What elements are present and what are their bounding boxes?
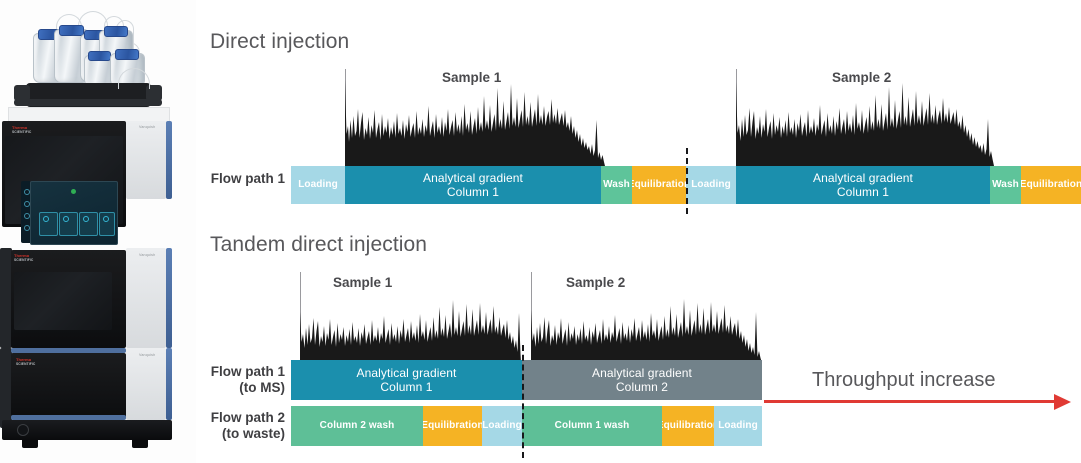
segment-analytical-gradient-column-2[interactable]: Analytical gradient Column 2 xyxy=(522,360,762,400)
instrument-accent-stripe xyxy=(166,348,172,420)
module-name-label: Vanquish xyxy=(139,253,155,257)
segment-line-1: Analytical gradient xyxy=(592,366,692,380)
instrument-foot xyxy=(132,440,148,448)
segment-analytical-gradient-column-1[interactable]: Analytical gradient Column 1 xyxy=(291,360,522,400)
uhplc-instrument-photo: ThermoSCIENTIFIC Vanquish ThermoSCIENTIF… xyxy=(0,0,196,463)
panel-title-direct-injection: Direct injection xyxy=(210,30,349,54)
segment-analytical-gradient-column-1[interactable]: Analytical gradient Column 1 xyxy=(736,166,990,204)
flow-path-1-label-text: Flow path 1 xyxy=(211,171,285,186)
segment-equilibration[interactable]: Equilibration xyxy=(1021,166,1081,204)
screen-tile[interactable] xyxy=(39,212,58,236)
instrument-accent-stripe xyxy=(166,248,172,348)
segment-line-1: Analytical gradient xyxy=(813,171,913,185)
throughput-increase-arrow xyxy=(764,400,1071,416)
module-glass-panel xyxy=(14,272,112,330)
instrument-touchscreen[interactable] xyxy=(30,181,118,245)
module-name-label: Vanquish xyxy=(139,353,155,357)
bottle-cap xyxy=(115,49,139,60)
segment-equilibration[interactable]: Equilibration xyxy=(662,406,714,446)
bottle-cap xyxy=(88,51,111,61)
screen-tile[interactable] xyxy=(99,212,115,236)
screen-side-rail xyxy=(21,181,30,243)
bottle-cap xyxy=(59,25,84,36)
instrument-foot xyxy=(22,440,38,448)
chromatogram-trace-sample-2 xyxy=(736,76,994,166)
flow-path-2-to-waste-label: Flow path 2 (to waste) xyxy=(190,410,285,442)
segment-line-1: Analytical gradient xyxy=(357,366,457,380)
segment-loading[interactable]: Loading xyxy=(714,406,762,446)
instrument-module-light xyxy=(126,121,166,199)
flow-path-2-to-waste-sublabel: (to waste) xyxy=(190,426,285,442)
flow-path-2-to-waste-label-text: Flow path 2 xyxy=(211,410,285,425)
segment-equilibration[interactable]: Equilibration xyxy=(423,406,482,446)
segment-line-2: Column 1 xyxy=(447,185,499,199)
arrow-head xyxy=(1054,394,1071,410)
module-name-label: Vanquish xyxy=(139,125,155,129)
segment-equilibration[interactable]: Equilibration xyxy=(632,166,686,204)
segment-line-2: Column 2 xyxy=(616,380,668,394)
chromatogram-trace-sample-2 xyxy=(531,290,762,363)
chromatogram-trace-sample-1 xyxy=(345,76,605,166)
throughput-increase-label: Throughput increase xyxy=(812,369,995,392)
flow-path-1-to-ms-label: Flow path 1 (to MS) xyxy=(190,364,285,396)
sample-label: Sample 2 xyxy=(566,275,625,290)
brand-logo: ThermoSCIENTIFIC xyxy=(14,254,33,263)
solvent-tray-rail xyxy=(14,99,162,106)
segment-loading[interactable]: Loading xyxy=(482,406,522,446)
cycle-divider-line xyxy=(522,345,524,458)
segment-column-2-wash[interactable]: Column 2 wash xyxy=(291,406,423,446)
segment-loading[interactable]: Loading xyxy=(686,166,736,204)
status-indicator xyxy=(71,189,76,194)
segment-loading[interactable]: Loading xyxy=(291,166,345,204)
brand-logo: ThermoSCIENTIFIC xyxy=(12,126,31,135)
segment-line-2: Column 1 xyxy=(837,185,889,199)
flow-path-1-to-ms-label-text: Flow path 1 xyxy=(211,364,285,379)
segment-line-1: Analytical gradient xyxy=(423,171,523,185)
figure-canvas: ThermoSCIENTIFIC Vanquish ThermoSCIENTIF… xyxy=(0,0,1081,463)
cycle-divider-line xyxy=(686,148,688,214)
arrow-shaft xyxy=(764,400,1056,403)
instrument-module-light xyxy=(126,248,166,348)
screen-tile[interactable] xyxy=(79,212,98,236)
instrument-module-light xyxy=(126,348,166,420)
segment-line-2: Column 1 xyxy=(380,380,432,394)
flow-path-1-to-ms-sublabel: (to MS) xyxy=(190,380,285,396)
panel-title-tandem-direct-injection: Tandem direct injection xyxy=(210,233,427,257)
flow-path-1-label: Flow path 1 xyxy=(190,171,285,187)
segment-wash[interactable]: Wash xyxy=(601,166,632,204)
segment-column-1-wash[interactable]: Column 1 wash xyxy=(522,406,662,446)
screen-tile[interactable] xyxy=(59,212,78,236)
brand-logo: ThermoSCIENTIFIC xyxy=(16,358,35,367)
bottle-cap xyxy=(104,26,128,37)
instrument-accent-stripe xyxy=(166,121,172,199)
segment-analytical-gradient-column-1[interactable]: Analytical gradient Column 1 xyxy=(345,166,601,204)
power-knob[interactable] xyxy=(17,424,29,436)
chromatogram-trace-sample-1 xyxy=(300,290,521,363)
sample-label: Sample 1 xyxy=(333,275,392,290)
segment-wash[interactable]: Wash xyxy=(990,166,1021,204)
